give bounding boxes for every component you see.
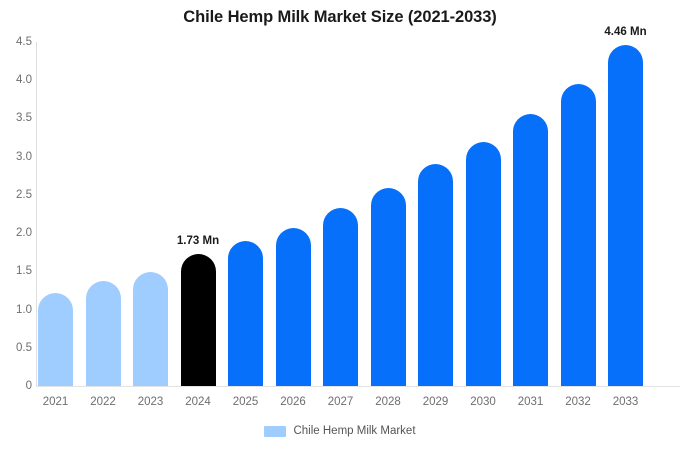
y-axis-tick-label: 2.5 bbox=[2, 189, 32, 201]
bar-2024[interactable] bbox=[181, 254, 216, 386]
y-axis-tick-label: 1.5 bbox=[2, 265, 32, 277]
y-axis-tick-label: 4.0 bbox=[2, 74, 32, 86]
x-axis-line bbox=[36, 386, 680, 387]
bar-2025[interactable] bbox=[228, 241, 263, 386]
bar-2021[interactable] bbox=[38, 293, 73, 386]
bar-2027[interactable] bbox=[323, 208, 358, 386]
bar-slot: 1.73 Mn bbox=[181, 42, 216, 386]
legend-swatch-chile-hemp-milk-market bbox=[264, 426, 286, 437]
bar-slot bbox=[561, 42, 596, 386]
chart-title: Chile Hemp Milk Market Size (2021-2033) bbox=[0, 8, 680, 27]
bar-2033[interactable] bbox=[608, 45, 643, 386]
bar-2026[interactable] bbox=[276, 228, 311, 386]
bar-2023[interactable] bbox=[133, 272, 168, 386]
y-axis-tick-label: 1.0 bbox=[2, 304, 32, 316]
bar-slot bbox=[466, 42, 501, 386]
y-axis-tick-label: 0 bbox=[2, 380, 32, 392]
x-axis-tick-label-2033: 2033 bbox=[596, 396, 656, 408]
bar-chart: Chile Hemp Milk Market Size (2021-2033) … bbox=[0, 0, 680, 450]
legend-label-chile-hemp-milk-market: Chile Hemp Milk Market bbox=[293, 425, 415, 437]
bar-2022[interactable] bbox=[86, 281, 121, 386]
bar-value-label-2024: 1.73 Mn bbox=[177, 235, 219, 247]
bar-slot: 4.46 Mn bbox=[608, 42, 643, 386]
bar-slot bbox=[276, 42, 311, 386]
y-axis-tick-label: 3.0 bbox=[2, 151, 32, 163]
bar-slot bbox=[323, 42, 358, 386]
bar-2030[interactable] bbox=[466, 142, 501, 386]
bar-slot bbox=[371, 42, 406, 386]
bar-2028[interactable] bbox=[371, 188, 406, 386]
bar-slot bbox=[133, 42, 168, 386]
y-axis-tick-label: 2.0 bbox=[2, 227, 32, 239]
bar-2031[interactable] bbox=[513, 114, 548, 386]
y-axis-tick-label: 3.5 bbox=[2, 112, 32, 124]
bar-slot bbox=[38, 42, 73, 386]
bar-2029[interactable] bbox=[418, 164, 453, 386]
bar-2032[interactable] bbox=[561, 84, 596, 386]
y-axis-tick-label: 4.5 bbox=[2, 36, 32, 48]
bar-slot bbox=[513, 42, 548, 386]
bar-slot bbox=[418, 42, 453, 386]
chart-legend: Chile Hemp Milk Market bbox=[0, 425, 680, 437]
plot-area: 1.73 Mn4.46 Mn bbox=[36, 42, 680, 386]
bar-slot bbox=[86, 42, 121, 386]
bar-value-label-2033: 4.46 Mn bbox=[604, 26, 646, 38]
y-axis-tick-label: 0.5 bbox=[2, 342, 32, 354]
bar-slot bbox=[228, 42, 263, 386]
